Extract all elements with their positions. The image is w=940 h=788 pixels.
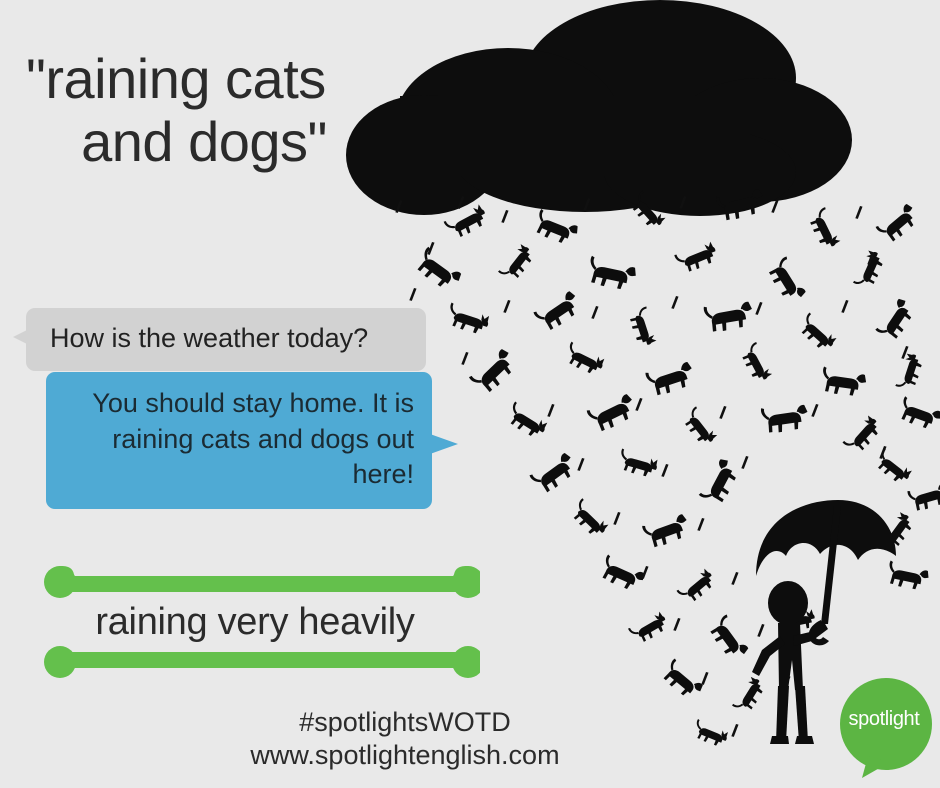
- footer-website[interactable]: www.spotlightenglish.com: [0, 739, 940, 772]
- chat-answer-text: You should stay home. It is raining cats…: [92, 388, 414, 489]
- headline-line-2: and dogs": [26, 111, 406, 174]
- footer-hashtag: #spotlightsWOTD: [0, 706, 940, 739]
- chat-bubble-question: How is the weather today?: [26, 308, 426, 371]
- page-title: "raining cats and dogs": [26, 48, 406, 173]
- definition-block: raining very heavily: [30, 566, 480, 678]
- storm-cloud: [346, 0, 852, 216]
- poster-canvas: "raining cats and dogs" How is the weath…: [0, 0, 940, 788]
- chat-question-text: How is the weather today?: [50, 323, 368, 353]
- logo-wordmark: spotlight: [838, 708, 930, 731]
- chat-bubble-answer: You should stay home. It is raining cats…: [46, 372, 432, 509]
- bubble-tail-right-icon: [430, 434, 458, 454]
- spotlight-logo[interactable]: spotlight: [838, 678, 934, 782]
- headline-line-1: "raining cats: [26, 48, 406, 111]
- footer: #spotlightsWOTD www.spotlightenglish.com: [0, 706, 940, 772]
- definition-text: raining very heavily: [30, 566, 480, 678]
- bubble-tail-left-icon: [13, 330, 27, 344]
- falling-animals: [413, 186, 940, 749]
